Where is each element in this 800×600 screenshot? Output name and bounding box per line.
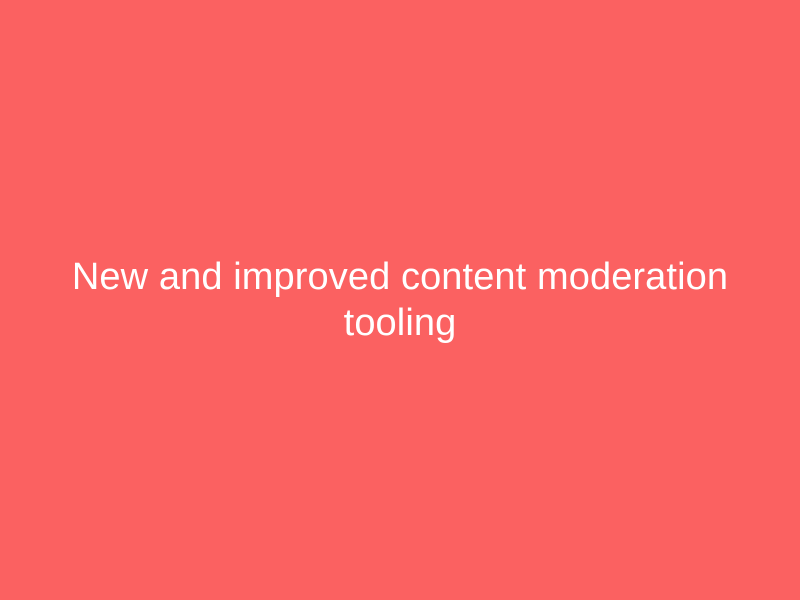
headline-text: New and improved content moderation tool… xyxy=(58,254,742,346)
placeholder-card: New and improved content moderation tool… xyxy=(0,0,800,600)
